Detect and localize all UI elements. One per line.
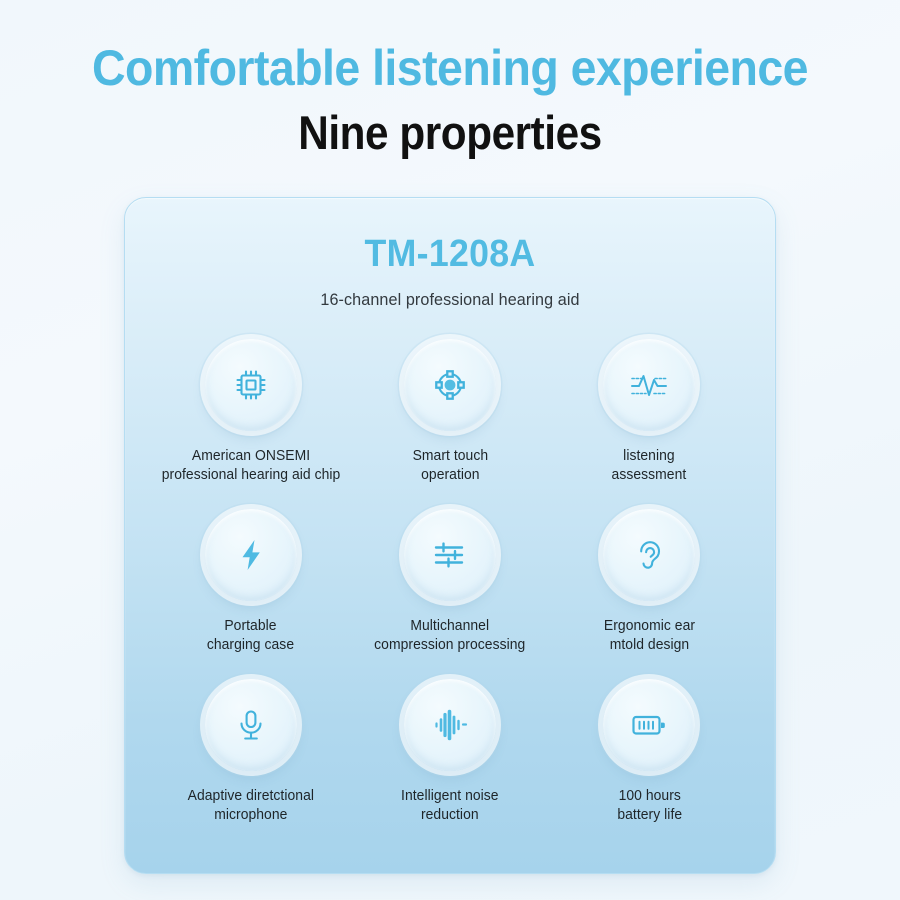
feature-caption: 100 hours battery life [617, 787, 682, 824]
feature-item: Portable charging case [151, 509, 350, 679]
product-feature-card: TM-1208A 16-channel professional hearing… [124, 197, 776, 874]
feature-icon-circle [603, 679, 695, 771]
battery-icon [628, 705, 670, 745]
feature-icon-circle [205, 509, 297, 601]
chip-icon [231, 365, 271, 405]
feature-caption: Ergonomic ear mtold design [604, 617, 695, 654]
feature-icon-circle [603, 509, 695, 601]
feature-caption: Adaptive diretctional microphone [187, 787, 313, 824]
feature-caption: Multichannel compression processing [374, 617, 525, 654]
page-headings: Comfortable listening experience Nine pr… [0, 36, 900, 164]
page-subtitle: Nine properties [45, 102, 855, 164]
feature-item: 100 hours battery life [550, 679, 749, 849]
feature-icon-circle [205, 339, 297, 431]
microphone-icon [231, 705, 271, 745]
waveform-icon [628, 365, 670, 405]
feature-caption: Portable charging case [207, 617, 294, 654]
feature-caption: American ONSEMI professional hearing aid… [161, 447, 340, 484]
feature-item: listening assessment [550, 339, 749, 509]
feature-icon-circle [404, 509, 496, 601]
lightning-bolt-icon [231, 535, 271, 575]
feature-item: Intelligent noise reduction [350, 679, 549, 849]
feature-icon-circle [603, 339, 695, 431]
audio-bars-icon [430, 705, 470, 745]
product-subtitle: 16-channel professional hearing aid [141, 289, 759, 311]
feature-icon-circle [404, 679, 496, 771]
feature-icon-circle [205, 679, 297, 771]
touch-target-icon [430, 365, 470, 405]
ear-icon [629, 535, 669, 575]
page-title: Comfortable listening experience [32, 36, 869, 100]
feature-item: Ergonomic ear mtold design [550, 509, 749, 679]
feature-grid: American ONSEMI professional hearing aid… [125, 339, 775, 849]
feature-item: Smart touch operation [350, 339, 549, 509]
feature-item: Multichannel compression processing [350, 509, 549, 679]
feature-icon-circle [404, 339, 496, 431]
sliders-icon [430, 535, 470, 575]
feature-caption: listening assessment [612, 447, 687, 484]
feature-item: Adaptive diretctional microphone [151, 679, 350, 849]
product-title: TM-1208A [145, 232, 756, 276]
feature-item: American ONSEMI professional hearing aid… [151, 339, 350, 509]
feature-caption: Intelligent noise reduction [401, 787, 499, 824]
feature-caption: Smart touch operation [412, 447, 488, 484]
